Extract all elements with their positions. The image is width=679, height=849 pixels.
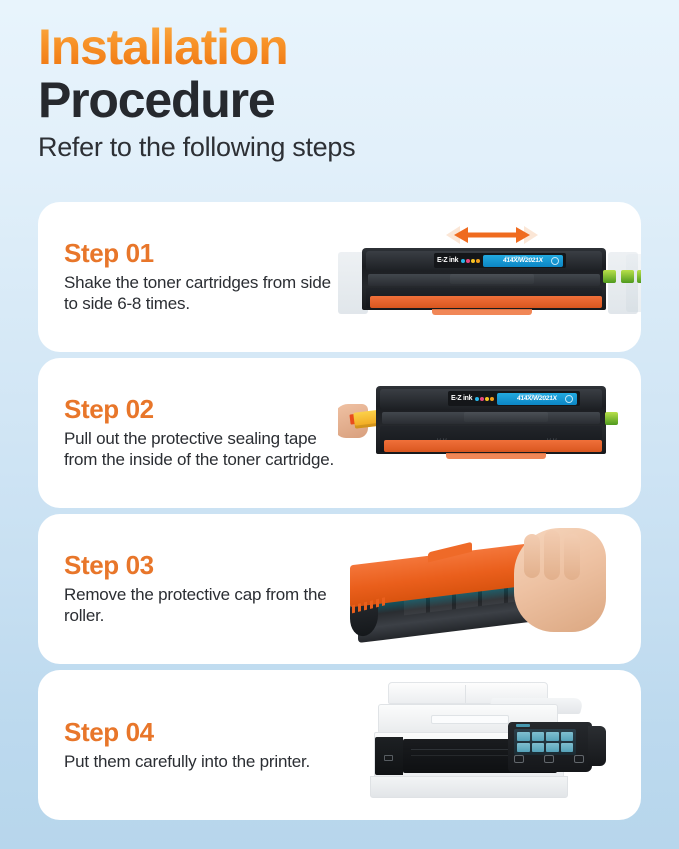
printer-button-row[interactable] <box>514 753 584 764</box>
brand-logo: E-Z ink <box>451 395 472 402</box>
cartridge-chip-icon <box>621 270 634 283</box>
step-card-02: Step 02 Pull out the protective sealing … <box>38 358 641 508</box>
finger <box>544 530 560 580</box>
step-card-01: Step 01 Shake the toner cartridges from … <box>38 202 641 352</box>
printer-home-button-icon[interactable] <box>514 755 524 763</box>
page-subtitle: Refer to the following steps <box>38 133 679 163</box>
screen-tile[interactable] <box>532 732 545 741</box>
cartridge-model-code: 414X/W2021X <box>503 257 544 264</box>
screen-tile[interactable] <box>546 743 559 752</box>
printer-lid-seam <box>465 685 466 703</box>
printer-vent-icon <box>384 755 393 761</box>
step-02-label: Step 02 <box>64 395 338 425</box>
finger <box>524 534 540 578</box>
cartridge-chip-icon <box>605 412 618 425</box>
cartridge-body: E-Z ink Compatible with 414X/W2021X <box>376 386 606 454</box>
printer-panel-wing <box>588 726 606 766</box>
screen-tile[interactable] <box>561 743 574 752</box>
step-02-text: Step 02 Pull out the protective sealing … <box>38 358 338 508</box>
page-header: Installation Procedure Refer to the foll… <box>0 0 679 162</box>
step-04-description: Put them carefully into the printer. <box>64 751 338 773</box>
step-04-illustration <box>338 670 641 820</box>
cartridge-model-badge: Compatible with 414X/W2021X <box>483 255 563 267</box>
cmyk-dots-icon <box>461 259 480 263</box>
printer-paper-cassette <box>370 776 568 798</box>
step-03-label: Step 03 <box>64 551 338 581</box>
printer-scanner-slot <box>431 715 509 724</box>
printer-graphic <box>370 682 600 810</box>
page-title-primary: Installation <box>38 22 288 72</box>
cmyk-dots-icon <box>475 397 494 401</box>
printer-left-block <box>375 737 403 775</box>
cartridge-mid-plate <box>450 274 534 284</box>
cartridge-chip-icon <box>637 270 641 283</box>
cartridge-base-orange <box>370 296 602 308</box>
screen-tile[interactable] <box>517 743 530 752</box>
cartridge-model-code: 414X/W2021X <box>517 395 558 402</box>
finger <box>564 534 580 580</box>
cartridge-base-tab <box>446 453 546 459</box>
step-04-label: Step 04 <box>64 718 338 748</box>
printer-status-led <box>516 724 530 727</box>
screen-tile[interactable] <box>561 732 574 741</box>
cartridge-label: E-Z ink Compatible with 414X/W2021X <box>434 253 566 268</box>
toner-cartridge-graphic: E-Z ink Compatible with 414X/W2021X <box>348 248 620 320</box>
page-title-secondary: Procedure <box>38 74 679 127</box>
toner-cartridge-graphic: E-Z ink Compatible with 414X/W2021X <box>362 386 620 464</box>
screen-tile[interactable] <box>532 743 545 752</box>
cartridge-mid-plate <box>464 412 548 422</box>
printer-control-panel[interactable] <box>508 722 592 772</box>
step-01-label: Step 01 <box>64 239 338 269</box>
cartridge-base-tab <box>432 309 532 315</box>
double-headed-arrow-icon <box>446 224 538 246</box>
cartridge-label: E-Z ink Compatible with 414X/W2021X <box>448 391 580 406</box>
printer-touchscreen[interactable] <box>514 729 576 755</box>
brand-logo: E-Z ink <box>437 257 458 264</box>
step-card-04: Step 04 Put them carefully into the prin… <box>38 670 641 820</box>
cartridge-ring-icon <box>565 395 573 403</box>
step-card-03: Step 03 Remove the protective cap from t… <box>38 514 641 664</box>
cartridge-base-orange <box>384 440 602 452</box>
protective-cap-tab <box>428 542 472 563</box>
printer-start-button-icon[interactable] <box>574 755 584 763</box>
cartridge-ring-icon <box>551 257 559 265</box>
cartridge-body: E-Z ink Compatible with 414X/W2021X <box>362 248 606 310</box>
step-03-description: Remove the protective cap from the rolle… <box>64 584 338 628</box>
step-02-description: Pull out the protective sealing tape fro… <box>64 428 338 472</box>
cartridge-mid-rail <box>368 274 600 286</box>
roller-assembly-graphic <box>350 544 600 644</box>
step-02-illustration: E-Z ink Compatible with 414X/W2021X <box>338 358 641 508</box>
step-01-illustration: E-Z ink Compatible with 414X/W2021X <box>338 202 641 352</box>
step-04-text: Step 04 Put them carefully into the prin… <box>38 670 338 820</box>
step-01-text: Step 01 Shake the toner cartridges from … <box>38 202 338 352</box>
step-03-text: Step 03 Remove the protective cap from t… <box>38 514 338 664</box>
cartridge-chip-icon <box>603 270 616 283</box>
cartridge-mid-rail <box>382 412 600 424</box>
hand-icon <box>514 528 606 632</box>
cartridge-ghost-right-2 <box>626 254 641 312</box>
step-03-illustration <box>338 514 641 664</box>
screen-tile[interactable] <box>546 732 559 741</box>
screen-tile[interactable] <box>517 732 530 741</box>
cartridge-model-badge: Compatible with 414X/W2021X <box>497 393 577 405</box>
step-01-description: Shake the toner cartridges from side to … <box>64 272 338 316</box>
printer-cancel-button-icon[interactable] <box>544 755 554 763</box>
steps-list: Step 01 Shake the toner cartridges from … <box>38 202 641 826</box>
